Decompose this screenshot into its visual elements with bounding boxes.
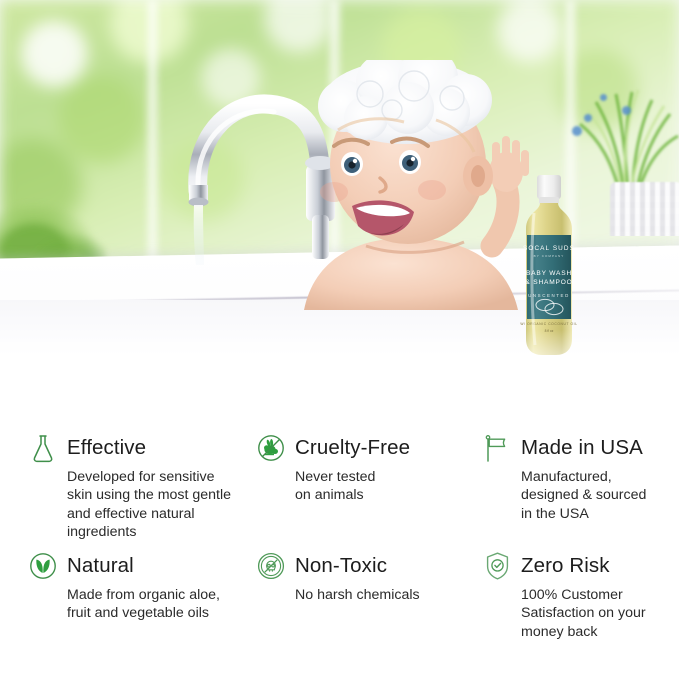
shield-check-icon bbox=[482, 550, 512, 582]
laughing-baby-icon bbox=[296, 60, 556, 310]
benefit-title: Made in USA bbox=[521, 438, 643, 459]
benefit-header: Zero Risk bbox=[482, 550, 679, 582]
grass-blades-icon bbox=[566, 86, 679, 196]
bottle-brand-sub: BY COMPANY bbox=[534, 254, 565, 258]
flask-icon bbox=[28, 432, 58, 464]
benefit-header: Non-Toxic bbox=[256, 550, 482, 582]
bottle-variant: UNSCENTED bbox=[528, 293, 570, 298]
benefit-description: Manufactured, designed & sourced in the … bbox=[521, 468, 679, 523]
flag-icon bbox=[482, 432, 512, 464]
potted-grass-plant bbox=[566, 86, 679, 236]
baby-figure bbox=[296, 60, 556, 310]
blue-flower bbox=[622, 106, 631, 115]
woven-pot bbox=[610, 182, 679, 236]
non-toxic-skull-icon bbox=[256, 550, 286, 582]
benefit-description: Made from organic aloe, fruit and vegeta… bbox=[67, 586, 256, 623]
benefit-description: 100% Customer Satisfaction on your money… bbox=[521, 586, 679, 641]
benefit-title: Cruelty-Free bbox=[295, 438, 410, 459]
blue-flower bbox=[600, 94, 607, 101]
benefit-zero-risk: Zero Risk 100% Customer Satisfaction on … bbox=[482, 550, 679, 668]
photo-fade bbox=[0, 330, 679, 400]
benefit-description: Developed for sensitive skin using the m… bbox=[67, 468, 256, 542]
benefit-header: Cruelty-Free bbox=[256, 432, 482, 464]
blue-flower bbox=[572, 126, 582, 136]
benefit-cruelty-free: Cruelty-Free Never tested on animals bbox=[256, 432, 482, 550]
benefit-title: Zero Risk bbox=[521, 556, 610, 577]
benefit-non-toxic: Non-Toxic No harsh chemicals bbox=[256, 550, 482, 668]
hero-photo: SOCAL SUDS BY COMPANY BABY WASH & SHAMPO… bbox=[0, 0, 679, 400]
benefit-effective: Effective Developed for sensitive skin u… bbox=[28, 432, 256, 550]
benefit-header: Effective bbox=[28, 432, 256, 464]
benefit-description: No harsh chemicals bbox=[295, 586, 482, 604]
product-marketing-image: SOCAL SUDS BY COMPANY BABY WASH & SHAMPO… bbox=[0, 0, 679, 679]
benefit-title: Natural bbox=[67, 556, 134, 577]
benefit-made-in-usa: Made in USA Manufactured, designed & sou… bbox=[482, 432, 679, 550]
benefit-title: Non-Toxic bbox=[295, 556, 387, 577]
cruelty-free-rabbit-icon bbox=[256, 432, 286, 464]
bottle-claim: W/ ORGANIC COCONUT OIL bbox=[520, 322, 577, 326]
benefit-title: Effective bbox=[67, 438, 146, 459]
leaf-icon bbox=[28, 550, 58, 582]
benefits-grid: Effective Developed for sensitive skin u… bbox=[0, 432, 679, 679]
blue-flower bbox=[584, 114, 592, 122]
benefit-header: Natural bbox=[28, 550, 256, 582]
benefit-natural: Natural Made from organic aloe, fruit an… bbox=[28, 550, 256, 668]
benefit-header: Made in USA bbox=[482, 432, 679, 464]
benefit-description: Never tested on animals bbox=[295, 468, 482, 505]
